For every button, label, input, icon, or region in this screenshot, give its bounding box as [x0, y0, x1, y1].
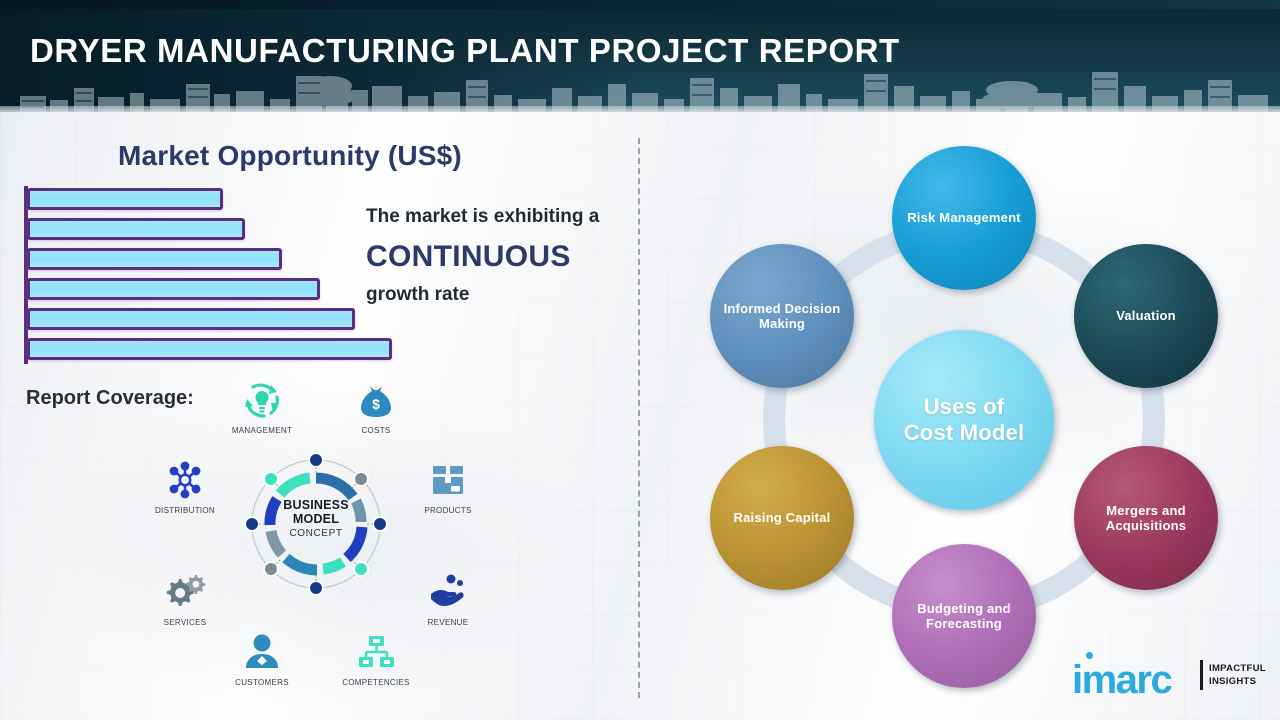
coverage-item-services: SERVICES — [137, 570, 233, 627]
bar-4 — [27, 278, 320, 300]
report-coverage-label: Report Coverage: — [26, 387, 194, 410]
market-caption-highlight: CONTINUOUS — [366, 240, 571, 274]
coverage-item-revenue: REVENUE — [400, 570, 496, 627]
coverage-label-revenue: REVENUE — [400, 618, 496, 627]
coverage-label-management: MANAGEMENT — [214, 426, 310, 435]
market-opportunity-bar-chart — [24, 186, 404, 364]
money-bag-icon: $ — [354, 378, 398, 422]
node-label-valuation: Valuation — [1110, 308, 1182, 323]
page-title: DRYER MANUFACTURING PLANT PROJECT REPORT — [30, 32, 900, 70]
node-label-informed-decision-making: Informed Decision Making — [710, 301, 854, 332]
coverage-label-customers: CUSTOMERS — [214, 678, 310, 687]
logo-separator — [1200, 660, 1203, 690]
coverage-label-products: PRODUCTS — [400, 506, 496, 515]
node-label-risk-management: Risk Management — [901, 210, 1027, 225]
slide-root: DRYER MANUFACTURING PLANT PROJECT REPORT… — [0, 0, 1280, 720]
node-budgeting-and-forecasting[interactable]: Budgeting and Forecasting — [892, 544, 1036, 688]
node-risk-management[interactable]: Risk Management — [892, 146, 1036, 290]
org-chart-icon — [354, 630, 398, 674]
svg-text:$: $ — [372, 396, 380, 412]
business-model-donut-icon — [244, 452, 388, 596]
bar-3 — [27, 248, 282, 270]
imarc-logo[interactable]: imarc IMPACTFUL INSIGHTS — [1072, 650, 1268, 702]
node-center-line2: Cost Model — [898, 420, 1031, 446]
coverage-label-distribution: DISTRIBUTION — [137, 506, 233, 515]
chart-axis — [24, 186, 28, 364]
node-label-raising-capital: Raising Capital — [728, 510, 837, 525]
coverage-item-distribution: DISTRIBUTION — [137, 458, 233, 515]
gears-icon — [163, 570, 207, 614]
bar-6 — [27, 338, 392, 360]
coverage-item-competencies: COMPETENCIES — [328, 630, 424, 687]
market-caption-line3: growth rate — [366, 284, 469, 306]
header-banner: DRYER MANUFACTURING PLANT PROJECT REPORT — [0, 0, 1280, 112]
bar-2 — [27, 218, 245, 240]
node-label-mergers-and-acquisitions: Mergers and Acquisitions — [1074, 503, 1218, 534]
bar-1 — [27, 188, 223, 210]
header-baseline — [0, 106, 1280, 112]
coverage-item-products: PRODUCTS — [400, 458, 496, 515]
logo-tagline-line2: INSIGHTS — [1209, 676, 1256, 687]
coverage-item-customers: CUSTOMERS — [214, 630, 310, 687]
uses-of-cost-model-diagram: Risk Management Valuation Mergers and Ac… — [690, 130, 1250, 700]
logo-tagline: IMPACTFUL INSIGHTS — [1209, 663, 1266, 689]
node-center-text: Uses of Cost Model — [892, 394, 1037, 446]
logo-wordmark: imarc — [1072, 658, 1171, 703]
header-top-strip — [0, 0, 1280, 9]
panel-divider — [638, 138, 640, 698]
recycle-lightbulb-icon — [240, 378, 284, 422]
node-valuation[interactable]: Valuation — [1074, 244, 1218, 388]
coverage-item-management: MANAGEMENT — [214, 378, 310, 435]
node-label-budgeting-and-forecasting: Budgeting and Forecasting — [892, 601, 1036, 632]
market-opportunity-title: Market Opportunity (US$) — [118, 140, 462, 172]
node-center-uses-of-cost-model[interactable]: Uses of Cost Model — [874, 330, 1054, 510]
bar-5 — [27, 308, 355, 330]
market-caption-line1: The market is exhibiting a — [366, 206, 599, 228]
business-model-diagram: BUSINESS MODEL CONCEPT — [244, 452, 388, 596]
package-box-icon — [426, 458, 470, 502]
coverage-label-services: SERVICES — [137, 618, 233, 627]
hand-coins-icon — [426, 570, 470, 614]
coverage-label-competencies: COMPETENCIES — [328, 678, 424, 687]
node-informed-decision-making[interactable]: Informed Decision Making — [710, 244, 854, 388]
user-person-icon — [240, 630, 284, 674]
node-raising-capital[interactable]: Raising Capital — [710, 446, 854, 590]
logo-tagline-line1: IMPACTFUL — [1209, 663, 1266, 674]
coverage-item-costs: $ COSTS — [328, 378, 424, 435]
coverage-label-costs: COSTS — [328, 426, 424, 435]
network-nodes-icon — [163, 458, 207, 502]
node-center-line1: Uses of — [898, 394, 1031, 420]
node-mergers-and-acquisitions[interactable]: Mergers and Acquisitions — [1074, 446, 1218, 590]
